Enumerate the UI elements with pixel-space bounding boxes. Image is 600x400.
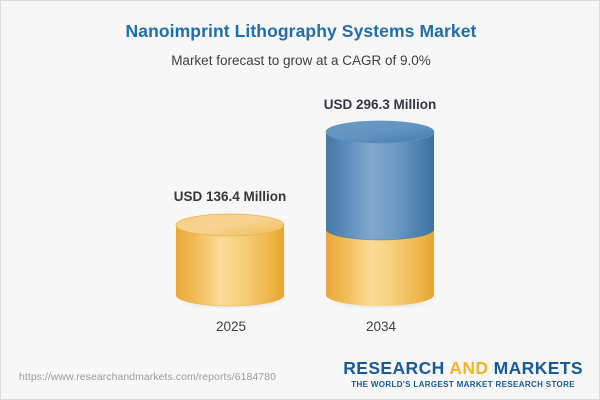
logo-wordmark: RESEARCH AND MARKETS [343,360,583,378]
research-and-markets-logo[interactable]: RESEARCH AND MARKETS THE WORLD'S LARGEST… [343,360,583,389]
chart-canvas: Nanoimprint Lithography Systems Market M… [0,0,600,400]
plot-area: USD 136.4 Million [1,1,600,356]
cylinder-2034-svg [324,120,438,308]
category-label-2034: 2034 [261,319,501,334]
bar-value-label-2025: USD 136.4 Million [110,189,350,204]
logo-and-text: AND [449,358,488,378]
bar-cylinder-2025[interactable] [174,213,288,313]
bar-cylinder-2034[interactable] [324,120,438,313]
logo-markets-text: MARKETS [488,358,583,378]
source-url[interactable]: https://www.researchandmarkets.com/repor… [19,371,276,383]
logo-tagline: THE WORLD'S LARGEST MARKET RESEARCH STOR… [343,381,583,389]
logo-research-text: RESEARCH [343,358,449,378]
bar-value-label-2034: USD 296.3 Million [260,97,500,112]
cylinder-2025-svg [174,213,288,308]
